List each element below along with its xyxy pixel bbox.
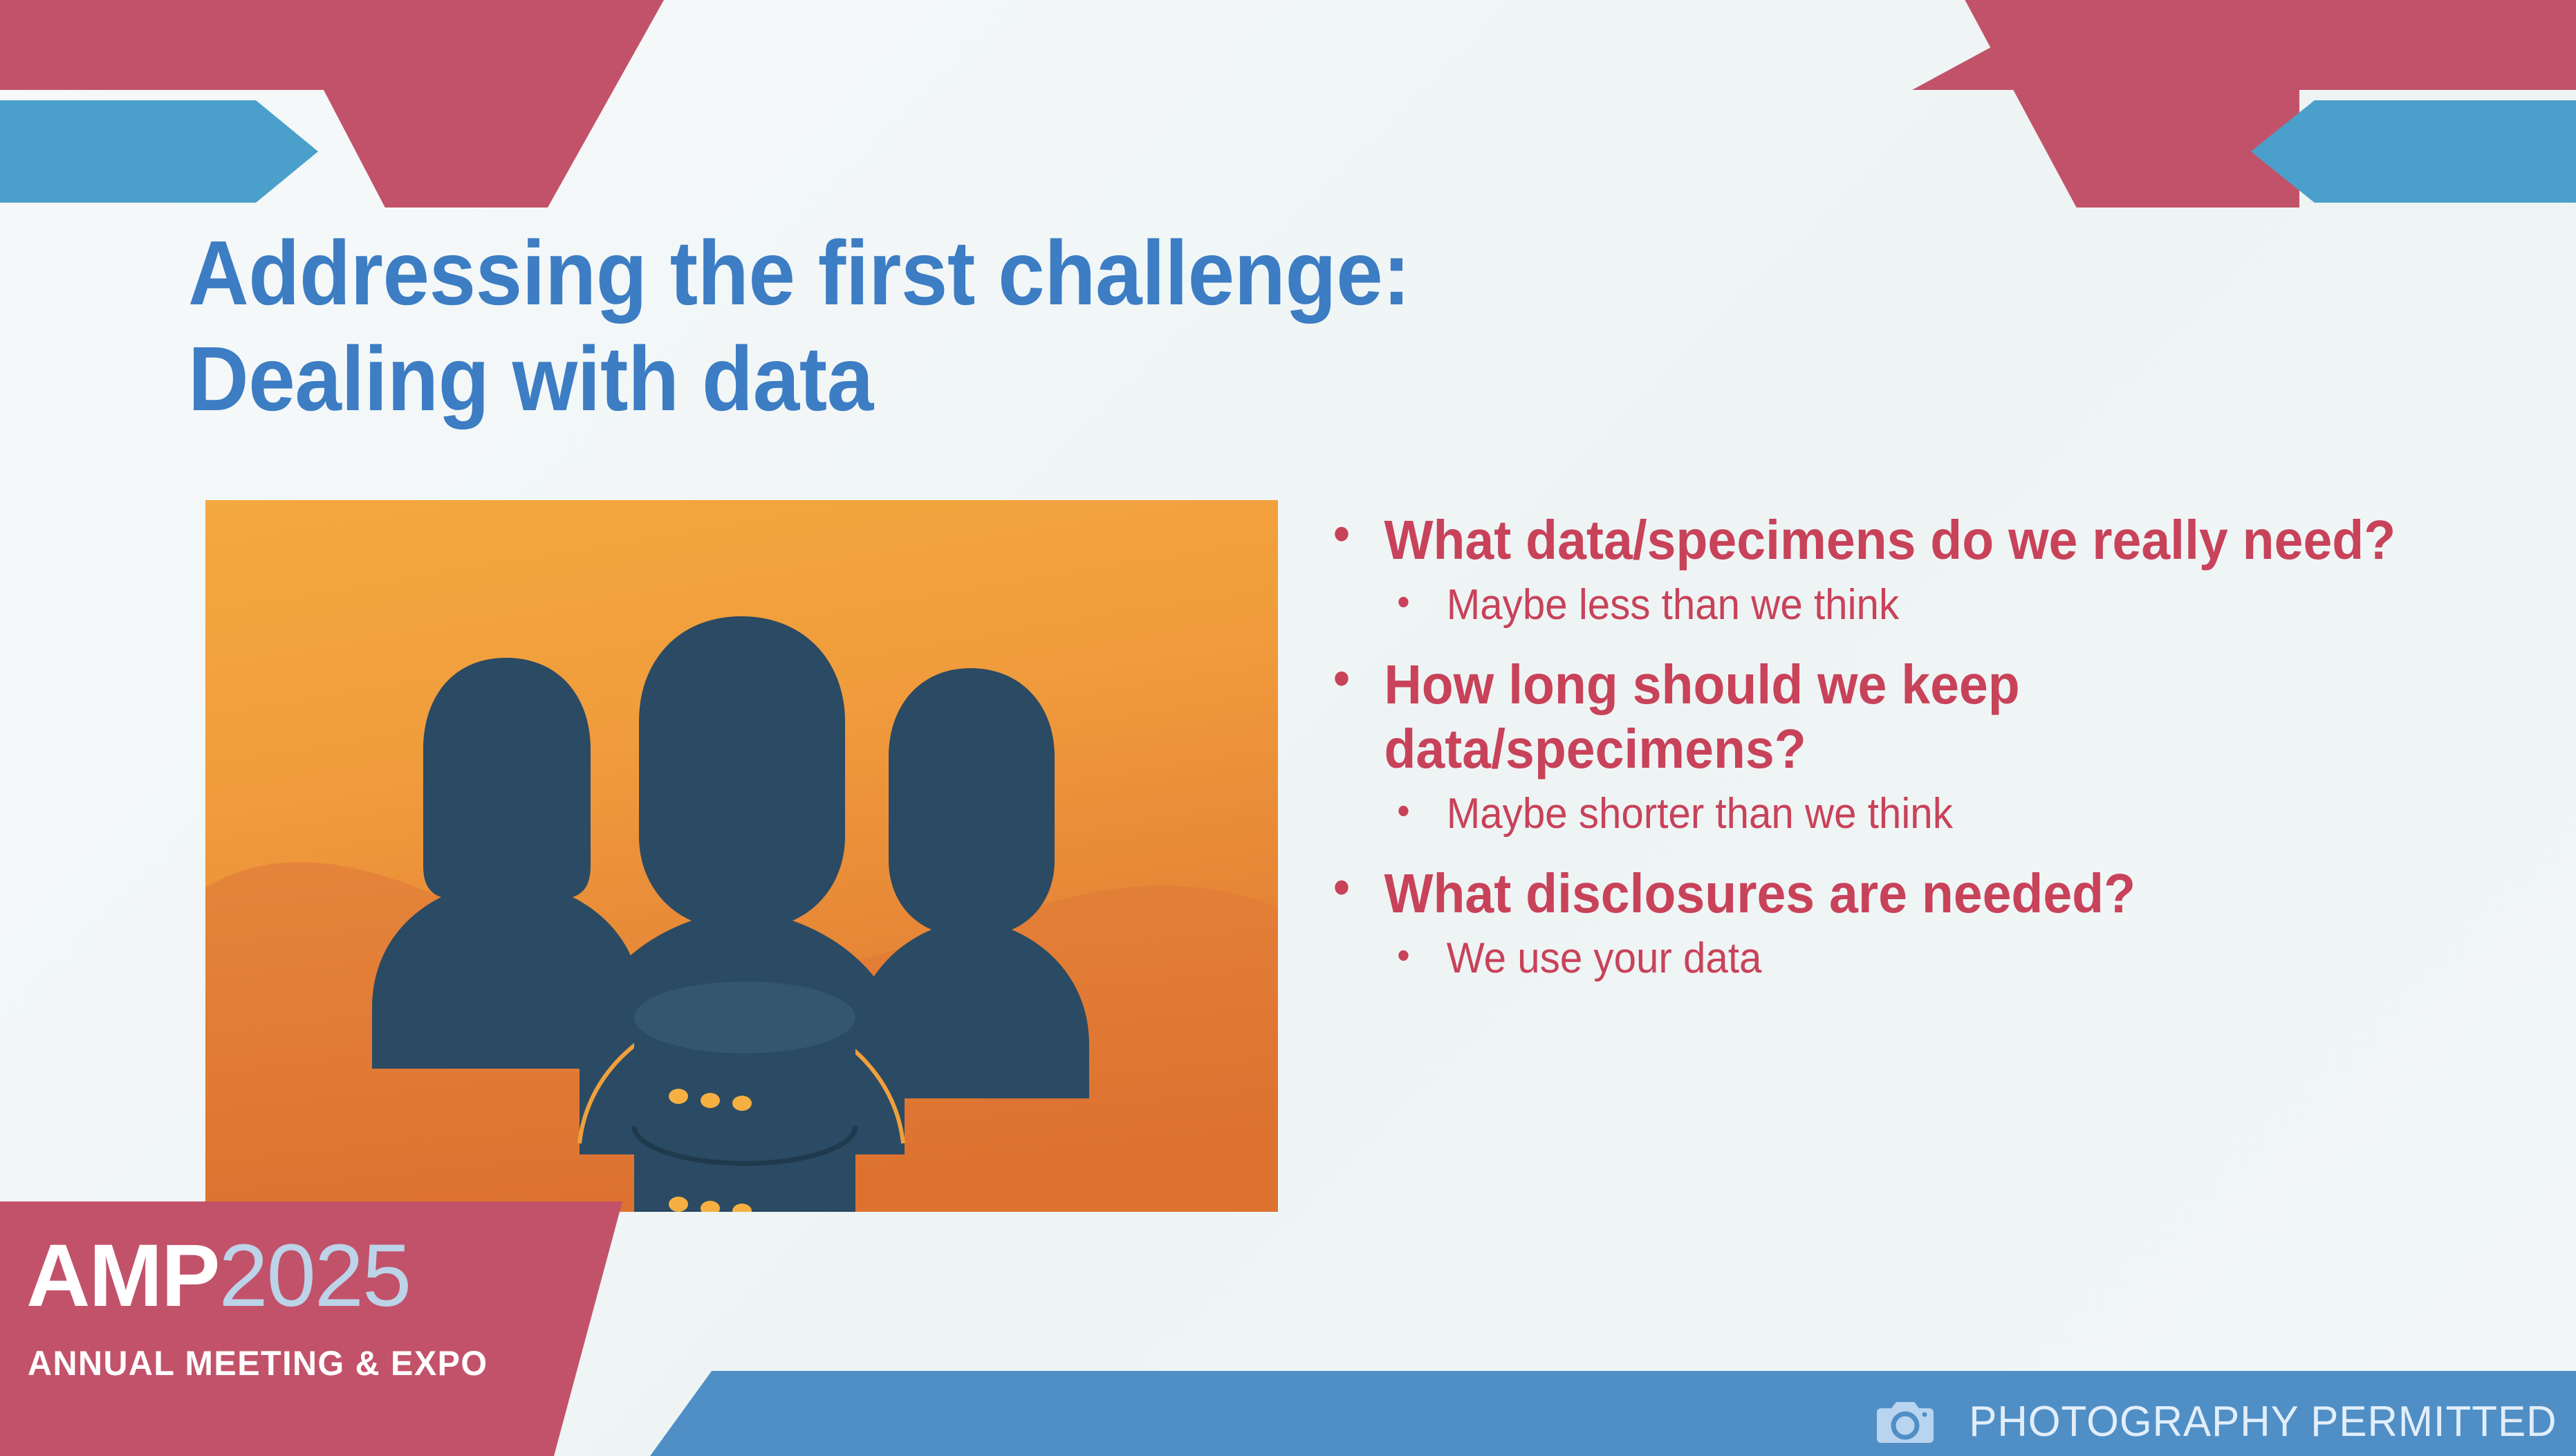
footer-bar: PHOTOGRAPHY PERMITTED xyxy=(650,1371,2576,1456)
photography-permitted-badge: PHOTOGRAPHY PERMITTED xyxy=(1876,1397,2557,1446)
bullet-level2: Maybe shorter than we think xyxy=(1324,789,2443,840)
people-and-database-illustration xyxy=(205,500,1278,1212)
bullet-group: How long should we keep data/specimens? … xyxy=(1324,653,2514,840)
slide-title-line-1: Addressing the first challenge: xyxy=(188,220,1588,326)
photography-permitted-label: PHOTOGRAPHY PERMITTED xyxy=(1969,1397,2557,1446)
bullet-level1: What disclosures are needed? xyxy=(1324,862,2443,926)
top-left-red-wedge xyxy=(277,0,664,208)
top-left-blue-chevron xyxy=(0,100,318,203)
bullet-level1: How long should we keep data/specimens? xyxy=(1324,653,2443,782)
top-right-red-wedge xyxy=(1871,0,2299,208)
bullet-level1: What data/specimens do we really need? xyxy=(1324,508,2443,573)
presentation-slide: Addressing the first challenge: Dealing … xyxy=(0,0,2576,1456)
illustration-graphic xyxy=(205,500,1278,1212)
slide-title: Addressing the first challenge: Dealing … xyxy=(188,220,1588,432)
amp-logo-subtitle: ANNUAL MEETING & EXPO xyxy=(28,1343,488,1383)
camera-icon xyxy=(1876,1399,1934,1445)
slide-title-line-2: Dealing with data xyxy=(188,326,1588,432)
bullet-group: What data/specimens do we really need? M… xyxy=(1324,508,2514,631)
top-left-red-shape xyxy=(0,0,636,90)
top-right-red-shape xyxy=(1912,0,2576,90)
amp-logo: AMP2025 ANNUAL MEETING & EXPO xyxy=(0,1201,622,1456)
bullet-level2: Maybe less than we think xyxy=(1324,580,2443,631)
bullet-level2: We use your data xyxy=(1324,933,2443,984)
top-right-blue-chevron xyxy=(2251,100,2576,203)
amp-logo-amp-text: AMP xyxy=(26,1226,219,1325)
bullet-list: What data/specimens do we really need? M… xyxy=(1324,508,2514,1001)
database-icon xyxy=(634,982,855,1212)
amp-logo-year-text: 2025 xyxy=(219,1226,410,1325)
bullet-group: What disclosures are needed? We use your… xyxy=(1324,862,2514,984)
amp-logo-wordmark: AMP2025 xyxy=(26,1232,410,1320)
